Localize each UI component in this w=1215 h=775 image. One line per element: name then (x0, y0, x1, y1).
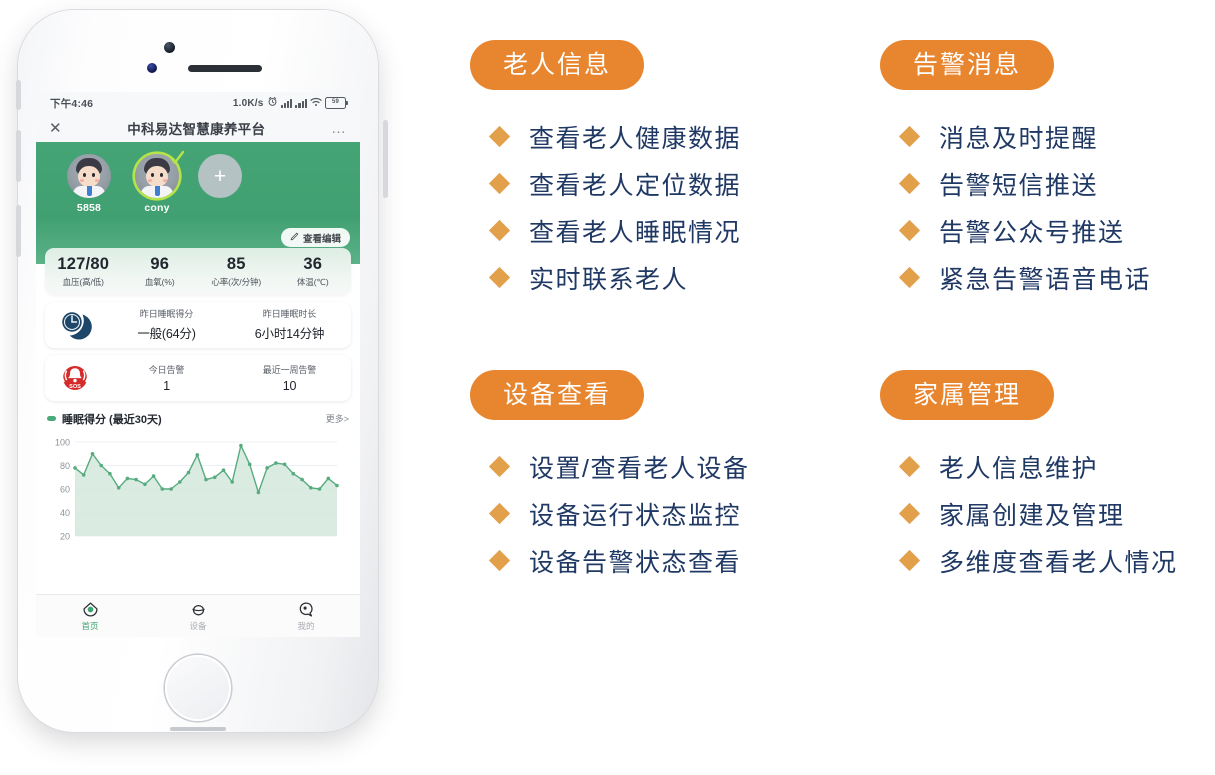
vital-blood-pressure[interactable]: 127/80 血压(高/低) (45, 254, 122, 288)
front-camera-icon (164, 42, 175, 53)
section-badge[interactable]: 告警消息 (880, 40, 1054, 90)
add-elder-button[interactable]: + (198, 154, 252, 198)
diamond-bullet-icon (899, 503, 920, 524)
sleep-chart-header: 睡眠得分 (最近30天) 更多> (47, 411, 349, 427)
diamond-bullet-icon (899, 126, 920, 147)
avatar-list: 5858 cony + (36, 154, 360, 214)
status-bar: 下午4:46 1.0K/s 59 (36, 92, 360, 114)
home-button[interactable] (165, 655, 231, 721)
list-item[interactable]: 设置/查看老人设备 (470, 443, 749, 490)
tab-profile-label: 我的 (252, 620, 360, 632)
avatar-item-selected[interactable]: cony (130, 154, 184, 214)
list-item[interactable]: 消息及时提醒 (880, 113, 1151, 160)
week-alarm-value: 10 (228, 379, 351, 393)
bottom-tab-bar: 首页 设备 我的 (36, 594, 360, 637)
avatar-label: cony (130, 202, 184, 214)
list-item-label: 多维度查看老人情况 (939, 543, 1178, 579)
feature-sections: 老人信息 查看老人健康数据 查看老人定位数据 查看老人睡眠情况 实时联系老人 告… (440, 0, 1215, 775)
sleep-chart-title: 睡眠得分 (最近30天) (62, 411, 162, 427)
device-icon (144, 600, 252, 619)
sleep-score-value: 一般(64分) (105, 323, 228, 342)
section-family-management: 家属管理 老人信息维护 家属创建及管理 多维度查看老人情况 (880, 370, 1178, 584)
app-nav-bar: ✕ 中科易达智慧康养平台 … (36, 114, 360, 142)
alarm-summary-card[interactable]: SOS 今日告警 1 最近一周告警 10 (45, 355, 351, 401)
phone-mute-switch (16, 80, 21, 110)
list-item[interactable]: 查看老人健康数据 (470, 113, 741, 160)
signal-bars-icon (281, 98, 293, 108)
close-icon[interactable]: ✕ (49, 121, 62, 136)
list-item[interactable]: 查看老人定位数据 (470, 160, 741, 207)
today-alarm-col: 今日告警 1 (105, 363, 228, 393)
section-bullet-list: 查看老人健康数据 查看老人定位数据 查看老人睡眠情况 实时联系老人 (470, 113, 741, 301)
status-time: 下午4:46 (50, 96, 93, 111)
week-alarm-label: 最近一周告警 (228, 363, 351, 376)
list-item-label: 告警短信推送 (939, 166, 1098, 202)
battery-icon: 59 (325, 97, 346, 109)
phone-mockup: 下午4:46 1.0K/s 59 ✕ 中科易达智慧康养平台 … (18, 10, 386, 740)
diamond-bullet-icon (489, 267, 510, 288)
profile-icon (252, 600, 360, 619)
vital-value: 36 (275, 254, 352, 275)
diamond-bullet-icon (899, 220, 920, 241)
phone-bottom-antenna (170, 727, 226, 731)
list-item-label: 查看老人定位数据 (529, 166, 741, 202)
list-item-label: 消息及时提醒 (939, 119, 1098, 155)
alarm-clock-icon (267, 96, 278, 110)
section-badge[interactable]: 家属管理 (880, 370, 1054, 420)
battery-level: 59 (332, 99, 339, 105)
list-item[interactable]: 查看老人睡眠情况 (470, 207, 741, 254)
vital-value: 127/80 (45, 254, 122, 275)
sleep-duration-value: 6小时14分钟 (228, 323, 351, 342)
proximity-sensor-icon (147, 63, 157, 73)
diamond-bullet-icon (489, 173, 510, 194)
vital-label: 血氧(%) (122, 276, 199, 288)
pencil-icon (290, 232, 299, 244)
list-item-label: 设置/查看老人设备 (529, 449, 749, 485)
svg-text:20: 20 (60, 531, 70, 541)
vital-temperature[interactable]: 36 体温(℃) (275, 254, 352, 288)
avatar-label: 5858 (62, 202, 116, 214)
sleep-score-label: 昨日睡眠得分 (105, 307, 228, 320)
vital-heart-rate[interactable]: 85 心率(次/分钟) (198, 254, 275, 288)
sleep-duration-label: 昨日睡眠时长 (228, 307, 351, 320)
diamond-bullet-icon (899, 267, 920, 288)
section-badge[interactable]: 设备查看 (470, 370, 644, 420)
sleep-score-col: 昨日睡眠得分 一般(64分) (105, 307, 228, 342)
phone-volume-down-button (16, 205, 21, 257)
list-item-label: 实时联系老人 (529, 260, 688, 296)
list-item-label: 设备运行状态监控 (529, 496, 741, 532)
section-device-view: 设备查看 设置/查看老人设备 设备运行状态监控 设备告警状态查看 (470, 370, 749, 584)
diamond-bullet-icon (489, 550, 510, 571)
check-icon (169, 150, 185, 166)
tab-device-label: 设备 (144, 620, 252, 632)
legend-marker-icon (47, 416, 56, 421)
list-item[interactable]: 告警短信推送 (880, 160, 1151, 207)
svg-text:60: 60 (60, 484, 70, 494)
list-item-label: 查看老人健康数据 (529, 119, 741, 155)
vital-label: 血压(高/低) (45, 276, 122, 288)
diamond-bullet-icon (899, 173, 920, 194)
diamond-bullet-icon (489, 126, 510, 147)
svg-text:SOS: SOS (69, 383, 81, 389)
week-alarm-col: 最近一周告警 10 (228, 363, 351, 393)
sleep-chart-more-link[interactable]: 更多> (326, 412, 349, 425)
avatar-item[interactable]: 5858 (62, 154, 116, 214)
list-item[interactable]: 设备告警状态查看 (470, 537, 749, 584)
home-icon (36, 600, 144, 619)
diamond-bullet-icon (489, 456, 510, 477)
tab-profile[interactable]: 我的 (252, 600, 360, 632)
vital-value: 96 (122, 254, 199, 275)
today-alarm-label: 今日告警 (105, 363, 228, 376)
list-item-label: 查看老人睡眠情况 (529, 213, 741, 249)
tab-home-label: 首页 (36, 620, 144, 632)
svg-text:100: 100 (55, 437, 70, 447)
phone-power-button (383, 120, 388, 198)
status-network-speed: 1.0K/s (233, 98, 264, 109)
diamond-bullet-icon (899, 550, 920, 571)
svg-text:80: 80 (60, 461, 70, 471)
sleep-duration-col: 昨日睡眠时长 6小时14分钟 (228, 307, 351, 342)
sos-bell-icon: SOS (45, 360, 105, 396)
section-bullet-list: 设置/查看老人设备 设备运行状态监控 设备告警状态查看 (470, 443, 749, 584)
earpiece-speaker (188, 65, 262, 72)
diamond-bullet-icon (489, 220, 510, 241)
clock-moon-icon (45, 307, 105, 343)
section-elder-info: 老人信息 查看老人健康数据 查看老人定位数据 查看老人睡眠情况 实时联系老人 (470, 40, 741, 301)
list-item[interactable]: 设备运行状态监控 (470, 490, 749, 537)
more-dots-icon[interactable]: … (331, 121, 347, 136)
section-badge[interactable]: 老人信息 (470, 40, 644, 90)
view-edit-label: 查看编辑 (303, 231, 341, 245)
vitals-card: 127/80 血压(高/低) 96 血氧(%) 85 心率(次/分钟) 36 体… (45, 248, 351, 295)
view-edit-button[interactable]: 查看编辑 (281, 228, 350, 247)
plus-icon: + (198, 154, 242, 198)
list-item-label: 告警公众号推送 (939, 213, 1125, 249)
signal-bars-icon-2 (295, 98, 307, 108)
list-item[interactable]: 紧急告警语音电话 (880, 254, 1151, 301)
tab-home[interactable]: 首页 (36, 600, 144, 632)
list-item-label: 家属创建及管理 (939, 496, 1125, 532)
svg-text:40: 40 (60, 508, 70, 518)
list-item[interactable]: 老人信息维护 (880, 443, 1178, 490)
sleep-score-chart[interactable]: 10080604020 (45, 432, 351, 542)
list-item[interactable]: 多维度查看老人情况 (880, 537, 1178, 584)
list-item-label: 设备告警状态查看 (529, 543, 741, 579)
list-item[interactable]: 告警公众号推送 (880, 207, 1151, 254)
section-alarm-message: 告警消息 消息及时提醒 告警短信推送 告警公众号推送 紧急告警语音电话 (880, 40, 1151, 301)
list-item[interactable]: 实时联系老人 (470, 254, 741, 301)
section-bullet-list: 老人信息维护 家属创建及管理 多维度查看老人情况 (880, 443, 1178, 584)
page-title: 中科易达智慧康养平台 (127, 118, 265, 138)
hero-banner: 5858 cony + (36, 142, 360, 264)
vital-label: 体温(℃) (275, 276, 352, 288)
wifi-icon (310, 97, 322, 110)
phone-screen: 下午4:46 1.0K/s 59 ✕ 中科易达智慧康养平台 … (36, 92, 360, 637)
tab-device[interactable]: 设备 (144, 600, 252, 632)
today-alarm-value: 1 (105, 379, 228, 393)
vital-label: 心率(次/分钟) (198, 276, 275, 288)
sleep-summary-card[interactable]: 昨日睡眠得分 一般(64分) 昨日睡眠时长 6小时14分钟 (45, 302, 351, 348)
diamond-bullet-icon (489, 503, 510, 524)
avatar (67, 154, 111, 198)
section-bullet-list: 消息及时提醒 告警短信推送 告警公众号推送 紧急告警语音电话 (880, 113, 1151, 301)
phone-volume-up-button (16, 130, 21, 182)
list-item-label: 老人信息维护 (939, 449, 1098, 485)
list-item[interactable]: 家属创建及管理 (880, 490, 1178, 537)
vital-blood-oxygen[interactable]: 96 血氧(%) (122, 254, 199, 288)
list-item-label: 紧急告警语音电话 (939, 260, 1151, 296)
vital-value: 85 (198, 254, 275, 275)
diamond-bullet-icon (899, 456, 920, 477)
